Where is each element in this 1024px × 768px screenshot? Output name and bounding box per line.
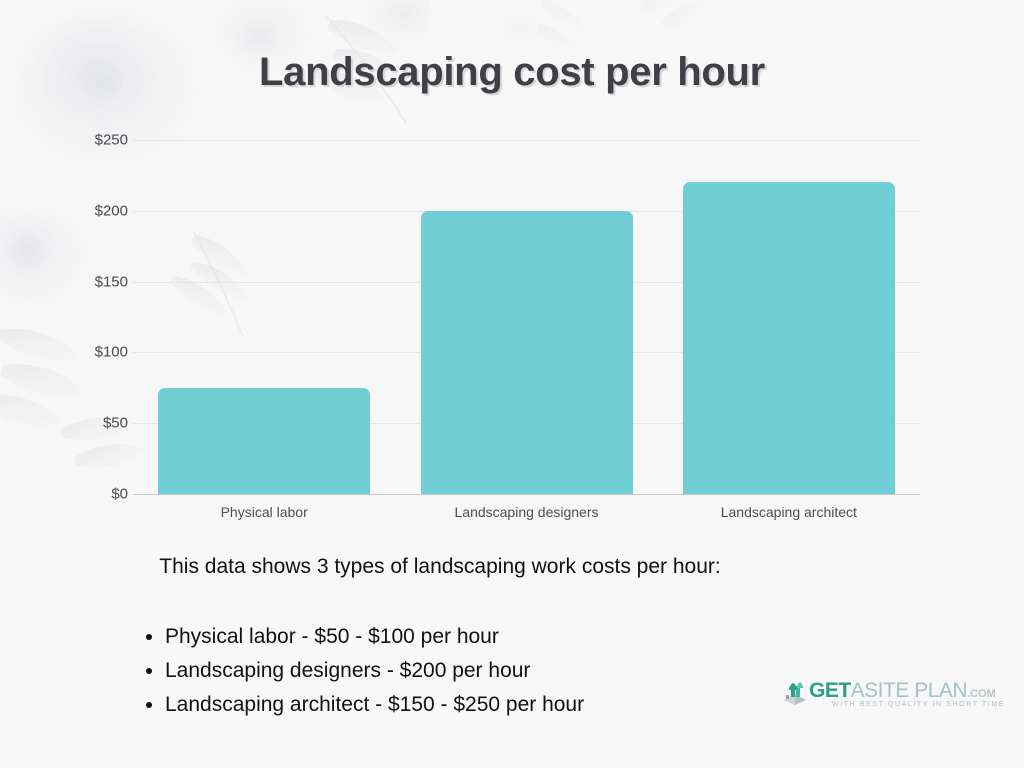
chart-bar[interactable] xyxy=(683,182,895,494)
y-axis: $0$50$100$150$200$250 xyxy=(48,140,128,540)
x-axis-tick-label: Landscaping architect xyxy=(721,504,857,520)
chart-plot-area: $0$50$100$150$200$250 Physical laborLand… xyxy=(0,140,1024,540)
slide-root: Landscaping cost per hour $0$50$100$150$… xyxy=(0,0,1024,768)
chart-baseline xyxy=(133,494,920,495)
site-plan-logo-icon xyxy=(782,680,808,706)
logo-text-com: .COM xyxy=(967,688,996,700)
x-axis-tick-label: Physical labor xyxy=(221,504,308,520)
summary-bullet-list: Physical labor - $50 - $100 per hourLand… xyxy=(140,624,584,727)
x-axis: Physical laborLandscaping designersLands… xyxy=(133,504,920,534)
logo-text-get: GET xyxy=(809,679,851,702)
chart-bar[interactable] xyxy=(421,211,633,494)
logo-text-asiteplan: ASITE PLAN xyxy=(851,679,967,702)
page-title: Landscaping cost per hour xyxy=(0,50,1024,95)
list-item: Physical labor - $50 - $100 per hour xyxy=(165,624,584,649)
chart-caption: This data shows 3 types of landscaping w… xyxy=(60,555,820,579)
y-axis-tick-label: $250 xyxy=(58,132,128,149)
chart-bars xyxy=(133,140,920,494)
x-axis-tick-label: Landscaping designers xyxy=(455,504,599,520)
logo-tagline: WITH BEST QUALITY IN SHORT TIME xyxy=(832,701,1005,708)
brand-logo[interactable]: GETASITE PLAN.COM WITH BEST QUALITY IN S… xyxy=(782,678,982,718)
list-item: Landscaping architect - $150 - $250 per … xyxy=(165,692,584,717)
y-axis-tick-label: $50 xyxy=(58,415,128,432)
y-axis-tick-label: $0 xyxy=(58,486,128,503)
y-axis-tick-label: $150 xyxy=(58,273,128,290)
y-axis-tick-label: $100 xyxy=(58,344,128,361)
y-axis-tick-label: $200 xyxy=(58,202,128,219)
logo-wordmark: GETASITE PLAN.COM xyxy=(809,679,996,703)
chart-bar[interactable] xyxy=(158,388,370,494)
list-item: Landscaping designers - $200 per hour xyxy=(165,658,584,683)
